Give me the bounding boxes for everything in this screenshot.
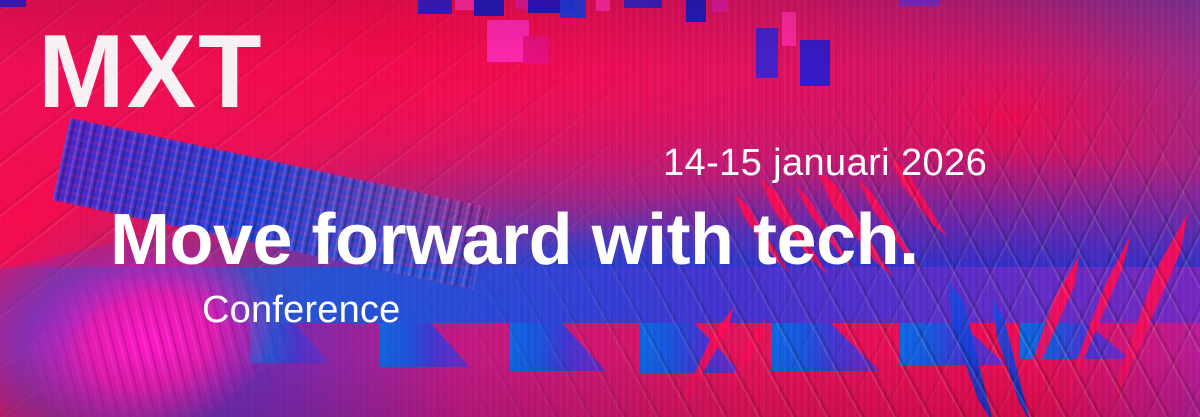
- event-subtitle: Conference: [202, 291, 400, 329]
- conference-banner: MXT 14-15 januari 2026 Move forward with…: [0, 0, 1200, 417]
- event-date: 14-15 januari 2026: [663, 144, 987, 182]
- brand-logo: MXT: [38, 20, 264, 124]
- event-headline: Move forward with tech.: [110, 204, 919, 276]
